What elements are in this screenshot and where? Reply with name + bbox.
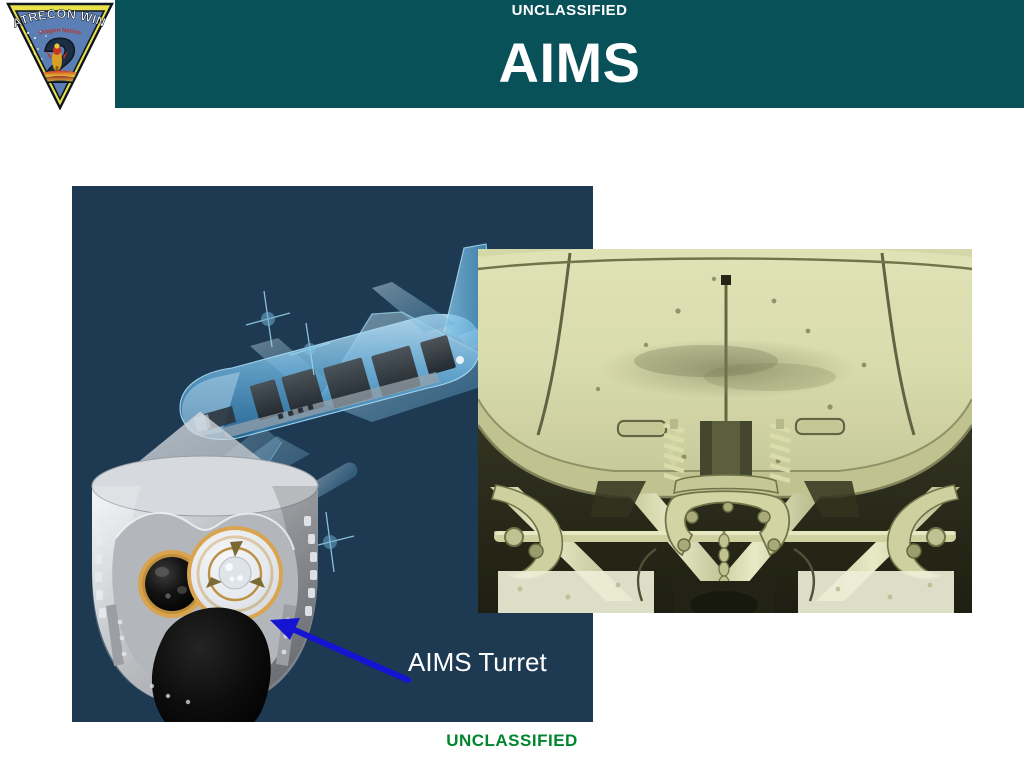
turret-ir-window <box>187 526 283 622</box>
classification-banner-top: UNCLASSIFIED <box>115 2 1024 20</box>
classification-banner-bottom: UNCLASSIFIED <box>0 730 1024 751</box>
aims-turret-callout-label: AIMS Turret <box>408 646 547 678</box>
squadron-patch-logo: 2 2 PATRECON WING Dragon Nation <box>4 2 116 110</box>
page-title: AIMS <box>115 32 1024 94</box>
aircraft-bay-photo <box>478 249 972 613</box>
